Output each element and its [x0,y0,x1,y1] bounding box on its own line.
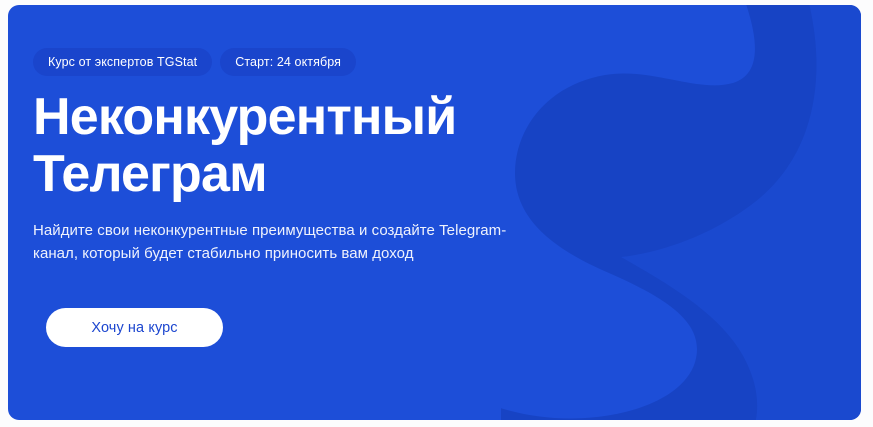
cta-enroll-button[interactable]: Хочу на курс [46,308,223,347]
badge-course-experts: Курс от экспертов TGStat [33,48,212,76]
page-title: Неконкурентный Телеграм [33,89,593,203]
badge-start-date: Старт: 24 октября [220,48,356,76]
page-canvas: Курс от экспертов TGStat Старт: 24 октяб… [0,0,873,427]
page-title-line-2: Телеграм [33,146,593,203]
promo-content: Курс от экспертов TGStat Старт: 24 октяб… [33,5,593,420]
badge-row: Курс от экспертов TGStat Старт: 24 октяб… [33,48,356,76]
promo-description: Найдите свои неконкурентные преимущества… [33,219,533,265]
page-title-line-1: Неконкурентный [33,89,593,146]
promo-banner-card: Курс от экспертов TGStat Старт: 24 октяб… [8,5,861,420]
